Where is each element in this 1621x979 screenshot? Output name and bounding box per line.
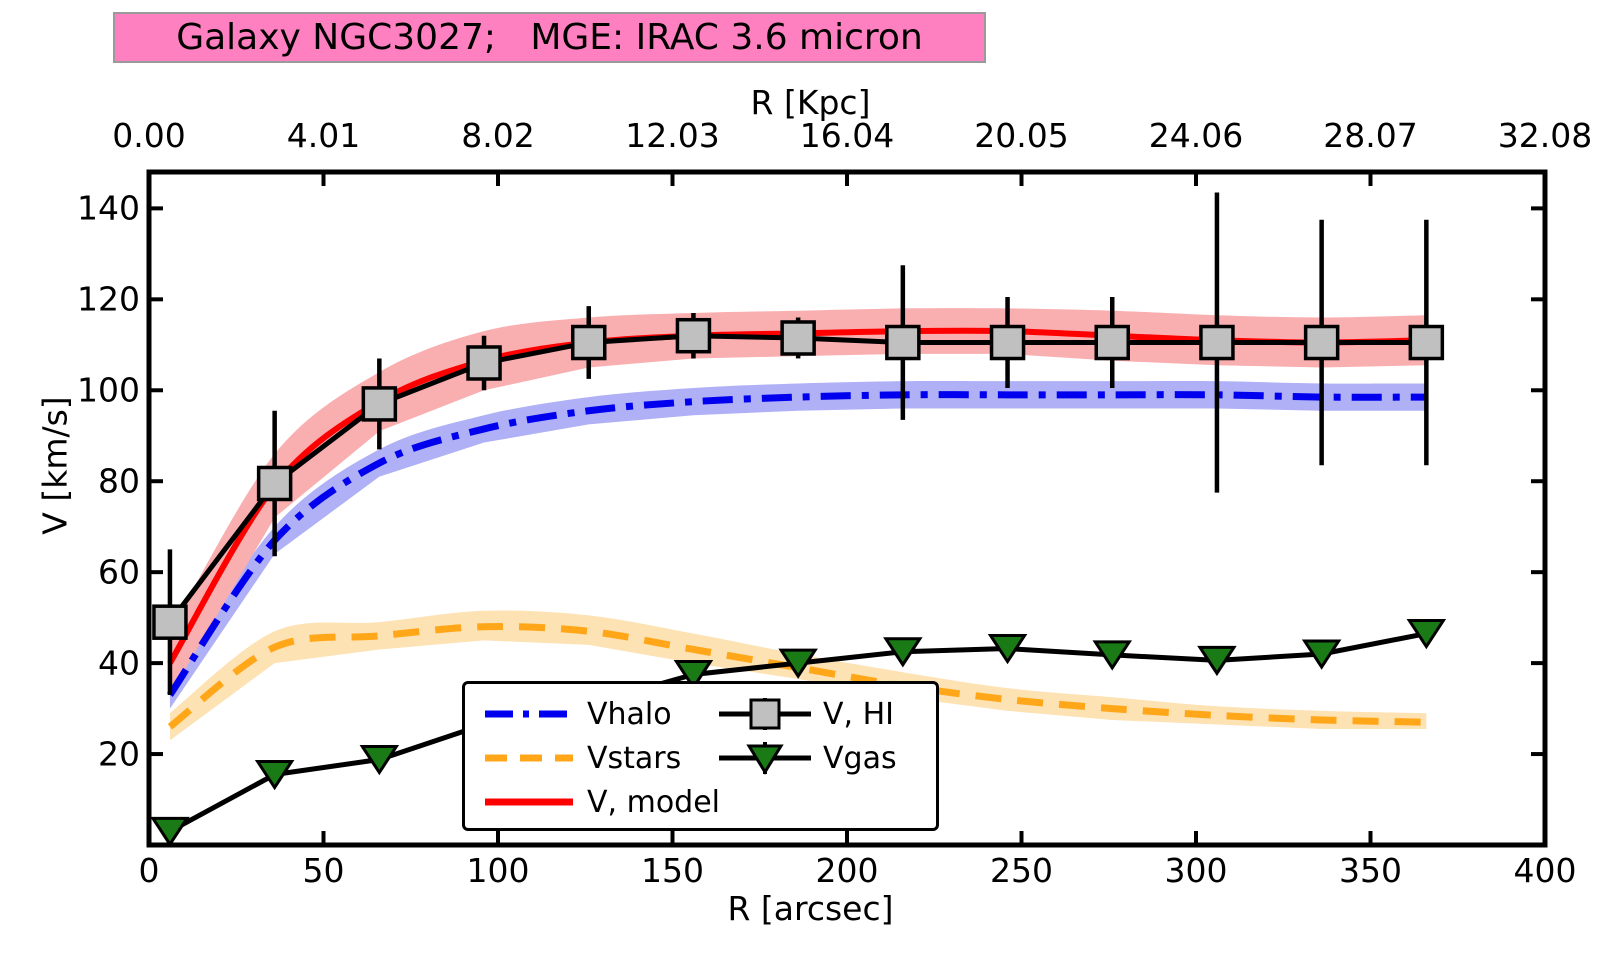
legend-sample-errorbar-square bbox=[717, 696, 813, 732]
legend-column-right: V, HIVgas bbox=[717, 692, 897, 780]
legend-item-v-hi[interactable]: V, HI bbox=[717, 692, 897, 736]
marker-hi bbox=[573, 327, 605, 359]
marker-hi bbox=[1306, 327, 1338, 359]
legend-label: Vhalo bbox=[577, 697, 672, 732]
legend-label: Vstars bbox=[577, 741, 681, 776]
legend-swatch bbox=[481, 740, 577, 776]
legend-label: V, model bbox=[577, 785, 720, 820]
legend-sample-solid-line bbox=[481, 784, 577, 820]
marker-hi bbox=[887, 327, 919, 359]
legend-swatch bbox=[717, 740, 813, 776]
marker-hi bbox=[677, 320, 709, 352]
marker-hi bbox=[363, 388, 395, 420]
marker-hi bbox=[468, 347, 500, 379]
legend-column-left: VhaloVstarsV, model bbox=[481, 692, 720, 824]
marker-hi bbox=[154, 606, 186, 638]
legend-sample-errorbar-triangle-down bbox=[717, 740, 813, 776]
legend-swatch bbox=[717, 696, 813, 732]
marker-hi bbox=[259, 467, 291, 499]
legend-label: Vgas bbox=[813, 741, 897, 776]
marker-hi bbox=[1096, 327, 1128, 359]
legend-swatch bbox=[481, 784, 577, 820]
chart-page: Galaxy NGC3027; MGE: IRAC 3.6 micron R [… bbox=[0, 0, 1621, 979]
legend[interactable]: VhaloVstarsV, model V, HIVgas bbox=[462, 681, 939, 831]
legend-swatch bbox=[481, 696, 577, 732]
marker-hi bbox=[992, 327, 1024, 359]
legend-item-vhalo[interactable]: Vhalo bbox=[481, 692, 720, 736]
marker-vgas bbox=[153, 818, 187, 844]
marker-hi bbox=[1410, 327, 1442, 359]
legend-item-v-model[interactable]: V, model bbox=[481, 780, 720, 824]
legend-label: V, HI bbox=[813, 697, 894, 732]
marker-hi bbox=[1201, 327, 1233, 359]
marker-hi bbox=[782, 322, 814, 354]
legend-sample-dashed-line bbox=[481, 740, 577, 776]
curve-v-model bbox=[170, 331, 1426, 663]
legend-item-vgas[interactable]: Vgas bbox=[717, 736, 897, 780]
plot-canvas bbox=[0, 0, 1621, 979]
legend-item-vstars[interactable]: Vstars bbox=[481, 736, 720, 780]
legend-sample-dashdot-line bbox=[481, 696, 577, 732]
